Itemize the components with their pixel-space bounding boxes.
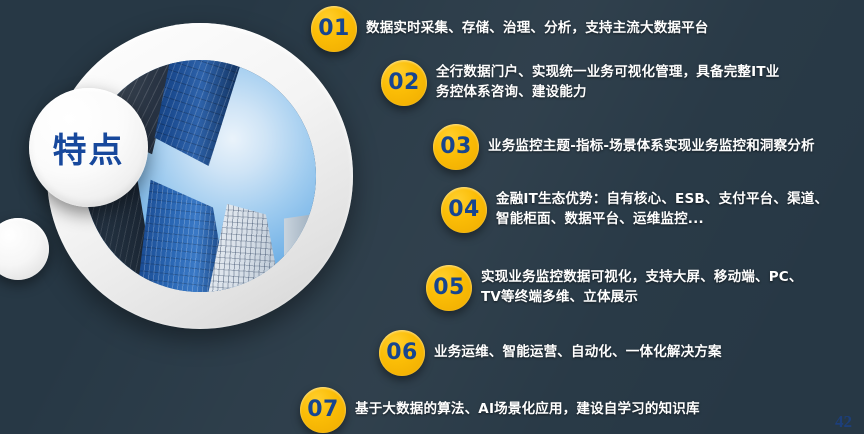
badge-number-03: 03 [433, 124, 479, 170]
feature-title-label: 特点 [53, 123, 125, 172]
page-number: 42 [835, 412, 852, 432]
feature-text-02: 全行数据门户、实现统一业务可视化管理，具备完整IT业 务控体系咨询、建设能力 [427, 60, 779, 103]
feature-item-07: 07 基于大数据的算法、AI场景化应用，建设自学习的知识库 [300, 387, 700, 433]
feature-item-05: 05 实现业务监控数据可视化，支持大屏、移动端、PC、 TV等终端多维、立体展示 [426, 265, 803, 311]
feature-text-05: 实现业务监控数据可视化，支持大屏、移动端、PC、 TV等终端多维、立体展示 [472, 265, 803, 308]
slide-canvas: 特点 01 数据实时采集、存储、治理、分析，支持主流大数据平台 02 全行数据门… [0, 0, 864, 434]
feature-item-06: 06 业务运维、智能运营、自动化、一体化解决方案 [379, 330, 722, 376]
feature-text-04: 金融IT生态优势：自有核心、ESB、支付平台、渠道、 智能柜面、数据平台、运维监… [487, 187, 828, 230]
feature-title-circle: 特点 [29, 88, 148, 207]
feature-item-02: 02 全行数据门户、实现统一业务可视化管理，具备完整IT业 务控体系咨询、建设能… [381, 60, 779, 106]
badge-number-07: 07 [300, 387, 346, 433]
feature-item-03: 03 业务监控主题-指标-场景体系实现业务监控和洞察分析 [433, 124, 815, 170]
feature-item-01: 01 数据实时采集、存储、治理、分析，支持主流大数据平台 [311, 6, 709, 52]
feature-text-01: 数据实时采集、存储、治理、分析，支持主流大数据平台 [357, 6, 709, 39]
badge-number-06: 06 [379, 330, 425, 376]
badge-number-02: 02 [381, 60, 427, 106]
feature-text-07: 基于大数据的算法、AI场景化应用，建设自学习的知识库 [346, 387, 700, 420]
feature-item-04: 04 金融IT生态优势：自有核心、ESB、支付平台、渠道、 智能柜面、数据平台、… [441, 187, 828, 233]
badge-number-01: 01 [311, 6, 357, 52]
building-6 [284, 213, 316, 292]
feature-text-03: 业务监控主题-指标-场景体系实现业务监控和洞察分析 [479, 124, 815, 157]
decorative-small-circle [0, 218, 49, 280]
feature-text-06: 业务运维、智能运营、自动化、一体化解决方案 [425, 330, 722, 363]
badge-number-04: 04 [441, 187, 487, 233]
badge-number-05: 05 [426, 265, 472, 311]
